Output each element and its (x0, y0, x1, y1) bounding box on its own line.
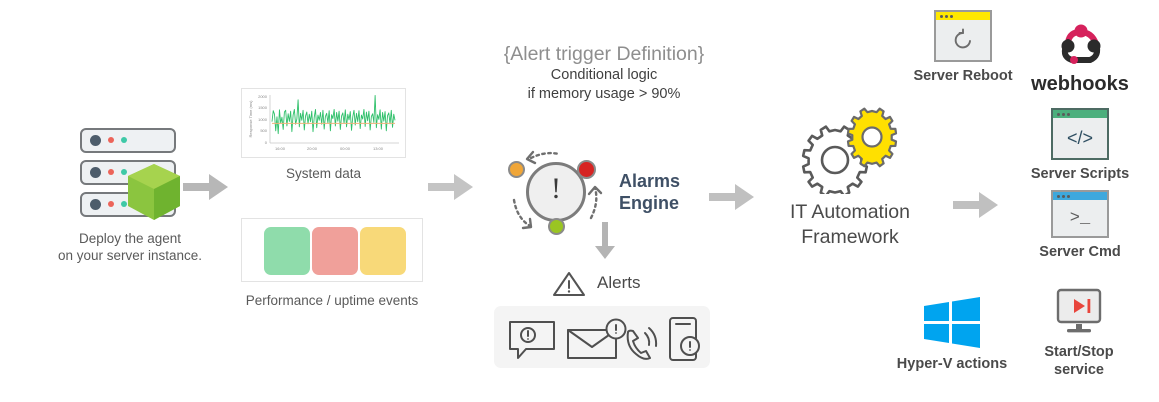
alerts-label: Alerts (597, 273, 640, 293)
alert-channel-icons (494, 306, 710, 368)
window-body (936, 20, 990, 60)
alert-definition-title: {Alert trigger Definition} (462, 42, 746, 66)
action-server-reboot[interactable]: Server Reboot (897, 10, 1029, 85)
response-time-chart: 2000 1500 1000 500 0 Response Time (ms) … (242, 89, 405, 157)
phone-call-alert-icon (628, 328, 656, 359)
alert-channels-panel (494, 306, 710, 368)
down-flow-arrow (592, 222, 618, 260)
terminal-glyph: >_ (1070, 209, 1090, 228)
green-block (264, 227, 310, 275)
flow-arrow (183, 172, 229, 202)
mobile-alert-icon (670, 318, 699, 360)
server-led-teal (121, 201, 127, 207)
svg-text:20:00: 20:00 (307, 146, 318, 151)
webhooks-logo-icon (1050, 22, 1110, 70)
red-block (312, 227, 358, 275)
deploy-caption-line1: Deploy the agent (40, 230, 220, 247)
action-label-line2: service (1026, 361, 1132, 379)
window-code-icon: </> (1051, 108, 1109, 160)
refresh-icon (951, 28, 975, 52)
window-body: >_ (1053, 200, 1107, 236)
server-status-dot (90, 167, 101, 178)
green-status-dot (548, 218, 565, 235)
server-led-red (108, 137, 114, 143)
email-alert-icon (568, 320, 626, 359)
server-led-teal (121, 137, 127, 143)
it-automation-label-line2: Framework (760, 225, 940, 250)
yellow-gear-icon (848, 109, 896, 167)
action-webhooks[interactable]: webhooks (1024, 22, 1136, 93)
code-glyph: </> (1067, 128, 1093, 149)
action-hyper-v[interactable]: Hyper-V actions (884, 296, 1020, 373)
system-data-caption: System data (241, 165, 406, 182)
chat-alert-icon (510, 322, 554, 358)
window-reboot-icon (934, 10, 992, 62)
windows-logo-icon (921, 296, 983, 350)
performance-events-card (241, 218, 423, 282)
server-led-red (108, 201, 114, 207)
window-title-bar (1053, 192, 1107, 200)
alarms-engine-label-line2: Engine (619, 192, 714, 214)
server-stack-icon (80, 128, 180, 222)
system-data-chart-card: 2000 1500 1000 500 0 Response Time (ms) … (241, 88, 406, 158)
warning-triangle-icon (551, 270, 591, 298)
red-status-dot (577, 160, 596, 179)
action-label: Server Cmd (1022, 243, 1138, 261)
alert-definition-line2: if memory usage > 90% (462, 85, 746, 104)
deploy-caption-line2: on your server instance. (40, 247, 220, 264)
window-terminal-icon: >_ (1051, 190, 1109, 238)
server-led-red (108, 169, 114, 175)
flow-arrow (953, 190, 999, 220)
svg-text:0: 0 (265, 140, 268, 145)
alert-trigger-definition: {Alert trigger Definition} Conditional l… (462, 42, 746, 104)
flow-arrow (428, 172, 474, 202)
performance-events-caption: Performance / uptime events (231, 292, 433, 309)
alarms-engine-label-line1: Alarms (619, 170, 714, 192)
gears-icon (760, 104, 940, 194)
action-label: Server Scripts (1017, 165, 1143, 183)
amber-status-dot (508, 161, 525, 178)
action-label: Hyper-V actions (884, 355, 1020, 373)
action-label: webhooks (1024, 75, 1136, 93)
svg-text:13:00: 13:00 (373, 146, 384, 151)
svg-text:1000: 1000 (258, 117, 268, 122)
svg-text:500: 500 (260, 128, 267, 133)
action-server-scripts[interactable]: </> Server Scripts (1017, 108, 1143, 183)
alert-definition-line1: Conditional logic (462, 66, 746, 85)
svg-text:00:00: 00:00 (340, 146, 351, 151)
action-label: Server Reboot (897, 67, 1029, 85)
server-bar (80, 128, 176, 153)
svg-text:Response Time (ms): Response Time (ms) (248, 100, 253, 138)
yellow-block (360, 227, 406, 275)
svg-text:2000: 2000 (258, 94, 268, 99)
it-automation-framework: IT Automation Framework (760, 104, 940, 250)
action-server-cmd[interactable]: >_ Server Cmd (1022, 190, 1138, 261)
server-status-dot (90, 135, 101, 146)
alerts-heading: Alerts (551, 270, 671, 298)
green-cube-icon (128, 164, 180, 220)
action-label-line1: Start/Stop (1026, 343, 1132, 361)
window-title-bar (936, 12, 990, 20)
flow-arrow (709, 182, 755, 212)
window-title-bar (1053, 110, 1107, 118)
exclamation-icon: ! (529, 174, 583, 204)
window-body: </> (1053, 118, 1107, 158)
monitor-play-icon (1048, 286, 1110, 338)
svg-text:1500: 1500 (258, 105, 268, 110)
it-automation-label-line1: IT Automation (760, 200, 940, 225)
svg-text:16:00: 16:00 (275, 146, 286, 151)
server-led-teal (121, 169, 127, 175)
action-start-stop-service[interactable]: Start/Stop service (1026, 286, 1132, 379)
server-status-dot (90, 199, 101, 210)
